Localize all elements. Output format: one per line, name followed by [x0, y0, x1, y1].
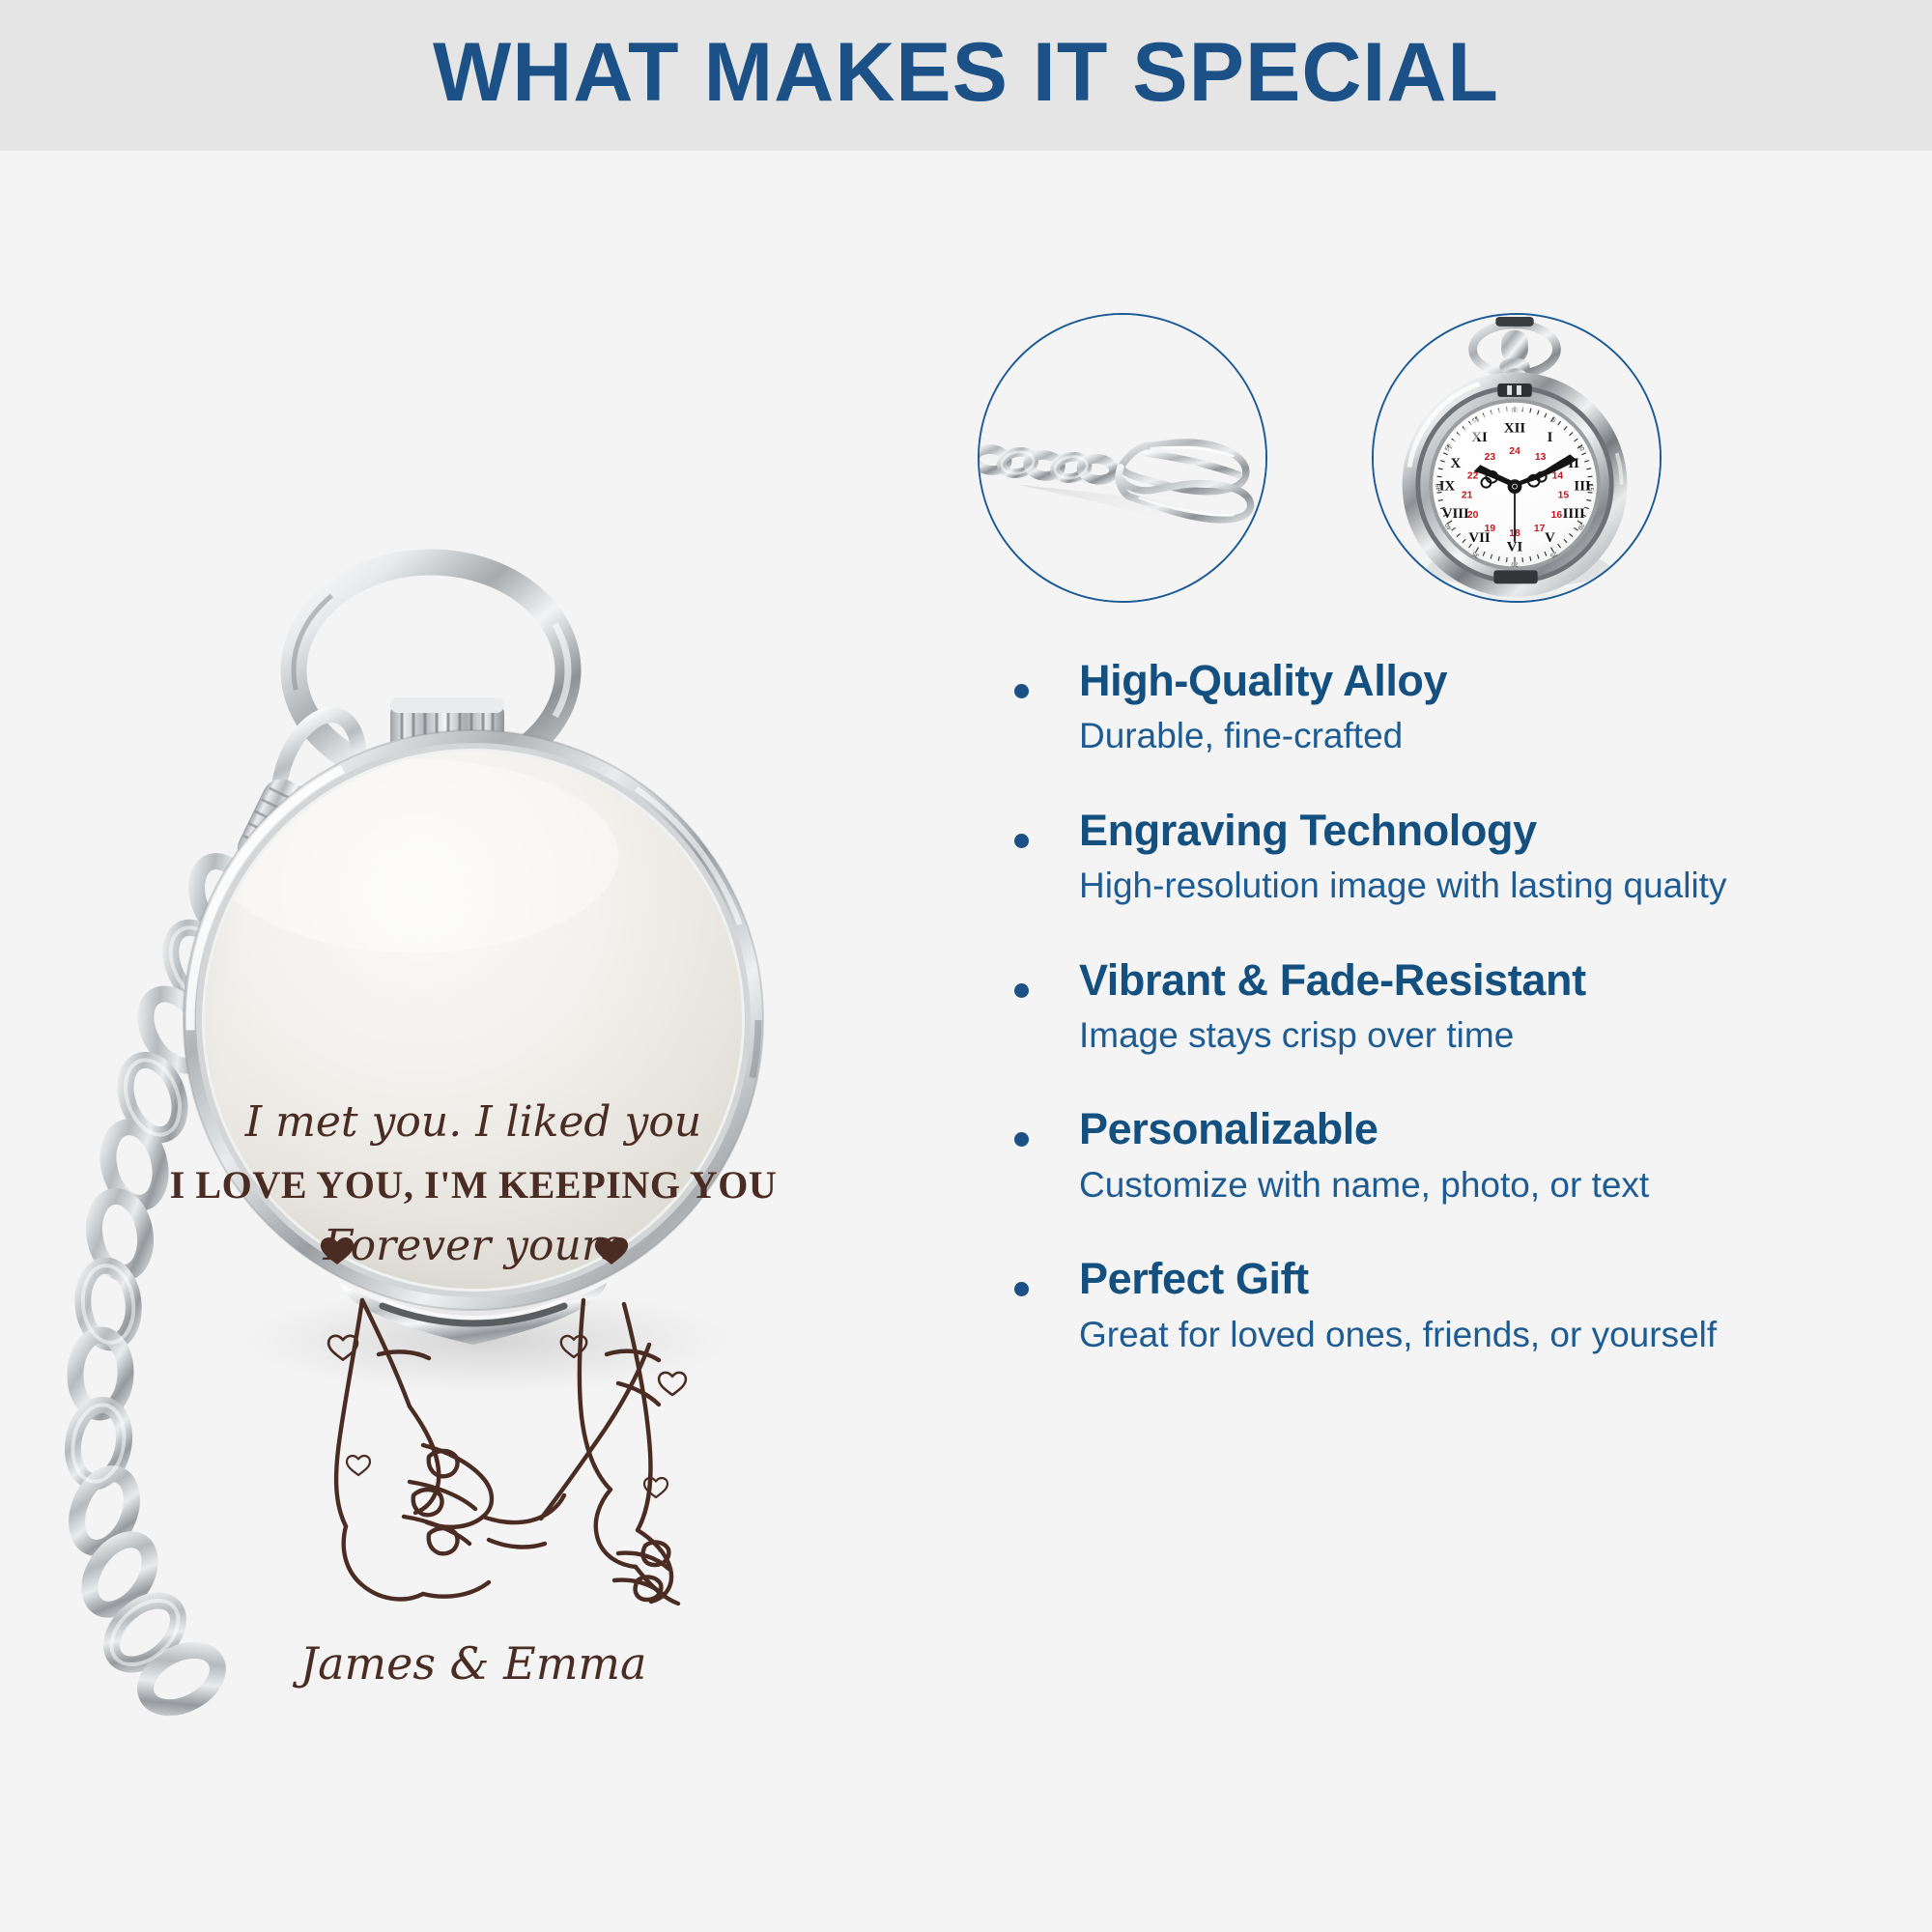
svg-text:V: V [1545, 530, 1555, 546]
product-hero-image: I met you. I liked you I LOVE YOU, I'M K… [0, 151, 966, 1932]
feature-title: Vibrant & Fade-Resistant [1079, 956, 1932, 1005]
bullet-icon [1014, 1132, 1029, 1147]
bullet-icon [1014, 983, 1029, 998]
feature-description: Great for loved ones, friends, or yourse… [1079, 1314, 1932, 1356]
chain-clasp-thumbnail [978, 313, 1267, 603]
svg-text:I: I [1548, 430, 1553, 445]
engraving-line-3-group: Forever yours [321, 1221, 628, 1270]
feature-title: Personalizable [1079, 1105, 1932, 1153]
svg-text:XII: XII [1504, 420, 1525, 436]
feature-title: High-Quality Alloy [1079, 657, 1932, 705]
feature-item-engraving-technology: Engraving Technology High-resolution ima… [966, 807, 1932, 908]
feature-description: High-resolution image with lasting quali… [1079, 865, 1932, 907]
feature-item-high-quality-alloy: High-Quality Alloy Durable, fine-crafted [966, 657, 1932, 758]
svg-text:15: 15 [1558, 490, 1570, 500]
svg-text:III: III [1574, 479, 1591, 495]
bullet-icon [1014, 684, 1029, 698]
svg-text:19: 19 [1485, 524, 1496, 534]
svg-text:VI: VI [1507, 540, 1523, 555]
feature-item-vibrant-fade-resistant: Vibrant & Fade-Resistant Image stays cri… [966, 956, 1932, 1058]
svg-text:20: 20 [1467, 510, 1479, 521]
engraving-line-2: I LOVE YOU, I'M KEEPING YOU [170, 1163, 778, 1207]
svg-text:13: 13 [1535, 452, 1547, 463]
svg-text:16: 16 [1551, 510, 1563, 521]
engraving-line-3: Forever yours [323, 1221, 624, 1270]
feature-description: Customize with name, photo, or text [1079, 1164, 1932, 1207]
feature-title: Perfect Gift [1079, 1255, 1932, 1303]
svg-text:14: 14 [1552, 471, 1564, 482]
feature-description: Image stays crisp over time [1079, 1014, 1932, 1057]
feature-item-perfect-gift: Perfect Gift Great for loved ones, frien… [966, 1255, 1932, 1356]
bullet-icon [1014, 834, 1029, 848]
svg-text:23: 23 [1485, 452, 1496, 463]
svg-text:24: 24 [1509, 446, 1520, 457]
svg-text:22: 22 [1467, 471, 1479, 482]
svg-text:VIII: VIII [1442, 506, 1469, 522]
feature-description: Durable, fine-crafted [1079, 715, 1932, 757]
watch-face-thumbnail: 60 5 10 15 20 25 30 35 40 45 50 55 XII I… [1372, 313, 1662, 603]
svg-text:IX: IX [1439, 479, 1456, 495]
right-column: 60 5 10 15 20 25 30 35 40 45 50 55 XII I… [966, 151, 1932, 1932]
svg-text:IIII: IIII [1563, 506, 1585, 522]
page-title: WHAT MAKES IT SPECIAL [0, 0, 1932, 151]
feature-title: Engraving Technology [1079, 807, 1932, 855]
engraving-line-1: I met you. I liked you [244, 1097, 702, 1147]
feature-list: High-Quality Alloy Durable, fine-crafted… [966, 657, 1932, 1356]
svg-text:30: 30 [1511, 561, 1519, 568]
svg-text:21: 21 [1462, 490, 1473, 500]
bullet-icon [1014, 1282, 1029, 1296]
feature-item-personalizable: Personalizable Customize with name, phot… [966, 1105, 1932, 1207]
engraved-names: James & Emma [293, 1637, 647, 1690]
svg-text:17: 17 [1534, 524, 1546, 534]
